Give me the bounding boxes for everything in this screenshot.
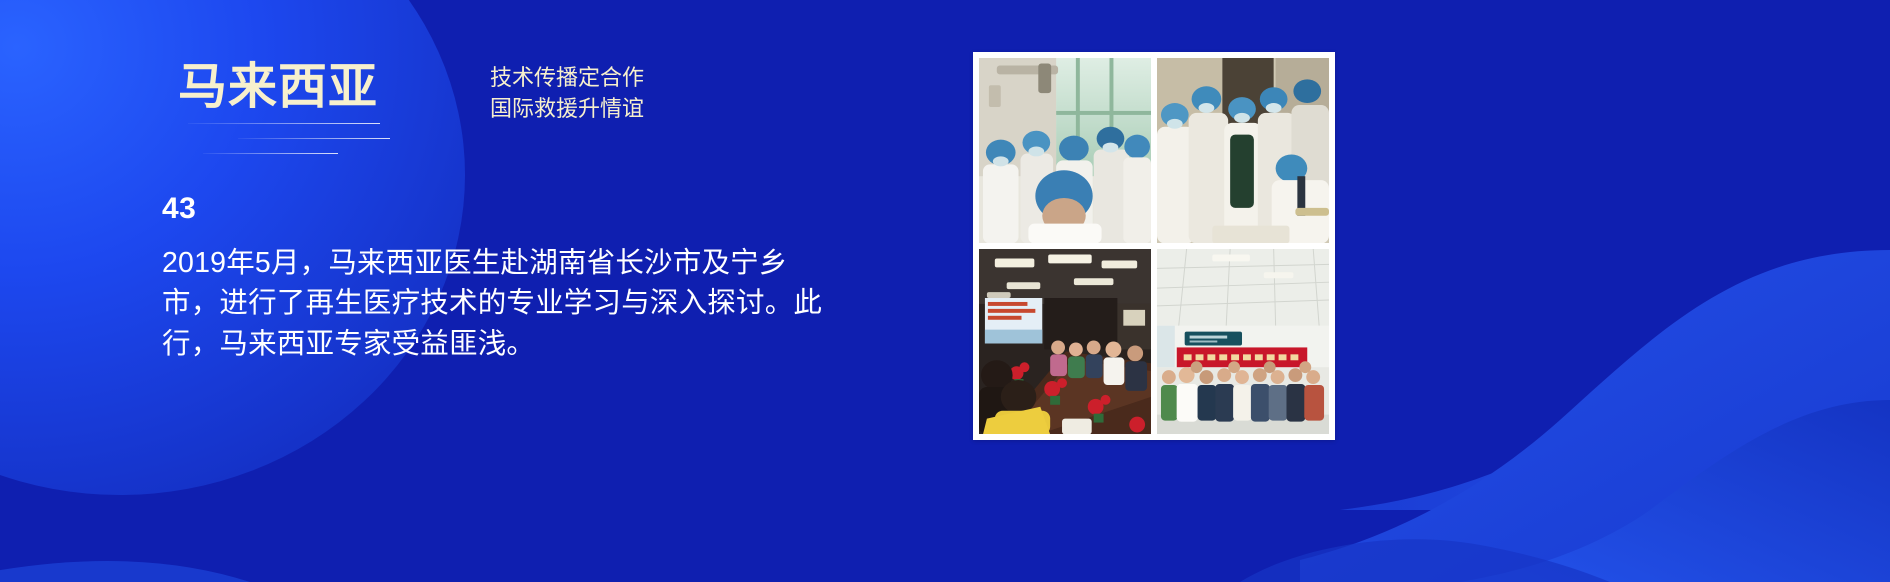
subtitle-block: 技术传播定合作 国际救援升情谊	[490, 62, 644, 124]
title-rule-1	[188, 123, 380, 124]
subtitle-line-2: 国际救援升情谊	[490, 93, 644, 124]
ward-observation-photo	[979, 58, 1151, 243]
text-column: 马来西亚 技术传播定合作 国际救援升情谊 43 2019年5月，马来西亚医生赴湖…	[160, 0, 880, 582]
collage-photo-top-right	[1157, 58, 1329, 243]
conference-room-photo	[979, 249, 1151, 434]
title-rule-3	[203, 153, 338, 154]
collage-photo-bottom-right	[1157, 249, 1329, 434]
group-photo-with-banner	[1157, 249, 1329, 434]
title-underline-rules	[178, 121, 598, 161]
photo-collage	[973, 52, 1335, 440]
surgical-demonstration-photo	[1157, 58, 1329, 243]
body-paragraph: 2019年5月，马来西亚医生赴湖南省长沙市及宁乡市，进行了再生医疗技术的专业学习…	[162, 243, 830, 364]
collage-photo-top-left	[979, 58, 1151, 243]
item-number: 43	[162, 192, 196, 226]
subtitle-line-1: 技术传播定合作	[490, 62, 644, 93]
collage-photo-bottom-left	[979, 249, 1151, 434]
title-rule-2	[238, 138, 390, 139]
slide: 马来西亚 技术传播定合作 国际救援升情谊 43 2019年5月，马来西亚医生赴湖…	[0, 0, 1890, 582]
